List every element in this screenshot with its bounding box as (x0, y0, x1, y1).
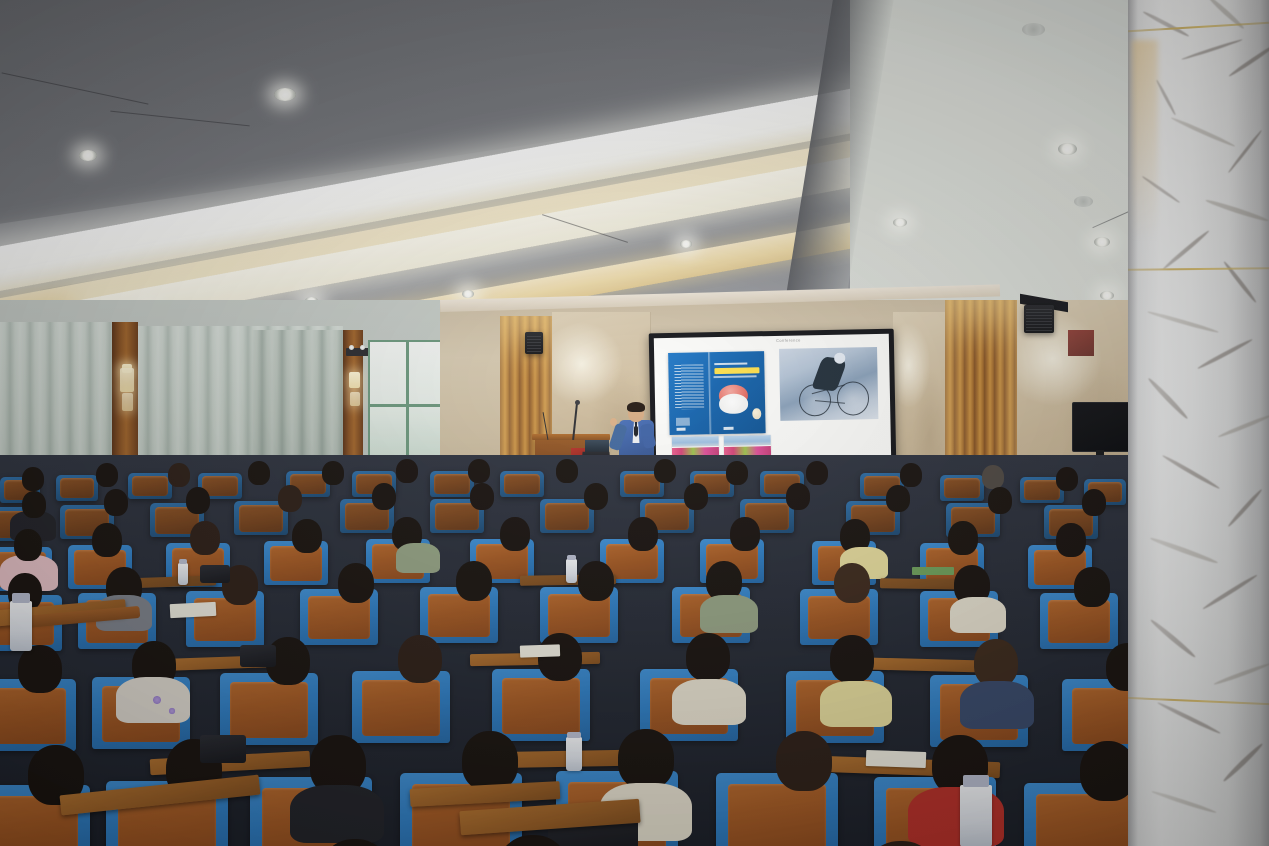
downlight (1094, 237, 1110, 247)
thumbnail-top (672, 436, 719, 447)
handheld-microphone (634, 426, 638, 436)
audience-head (92, 523, 122, 557)
marble-vein (1227, 488, 1263, 528)
marble-vein (1147, 377, 1189, 421)
seat[interactable] (352, 671, 450, 743)
audience-head (786, 483, 810, 510)
marble-vein (1162, 229, 1211, 271)
downlight (79, 150, 97, 161)
wall-sconce (350, 392, 360, 406)
audience-shoulders (672, 679, 746, 725)
marble-vein (1227, 129, 1263, 173)
marble-vein (1149, 536, 1218, 565)
audience-head (1056, 467, 1078, 491)
audience-head (578, 561, 614, 601)
seat[interactable] (56, 475, 98, 501)
audience-head (726, 461, 748, 485)
audience-head (686, 633, 730, 681)
water-bottle (566, 737, 582, 771)
slide-title: Conference (776, 337, 801, 342)
handbag (200, 565, 230, 583)
audience-head (948, 521, 978, 555)
marble-vein (1149, 618, 1197, 659)
clothing-flower-motif (168, 707, 176, 715)
audience-head (988, 487, 1012, 514)
audience-shoulders (396, 543, 440, 573)
audience-head (556, 459, 578, 483)
audience-head (830, 635, 874, 683)
audience-head (396, 459, 418, 483)
column-warm-reflection (1132, 40, 1158, 240)
audience-head (22, 467, 44, 491)
window-mullion (370, 404, 450, 407)
speaker-grille (1026, 307, 1052, 331)
audience-head (338, 563, 374, 603)
audience-head (18, 645, 62, 693)
papers (170, 602, 217, 618)
audience-shoulders (290, 785, 384, 843)
side-monitor (1072, 402, 1132, 452)
audience-head (104, 489, 128, 516)
clothing-flower-motif (152, 695, 162, 705)
marble-vein (1170, 116, 1236, 148)
spotlight (349, 345, 354, 350)
audience-head (22, 491, 46, 518)
audience-head (462, 731, 518, 791)
thumbnail-top (724, 435, 771, 446)
audience-shoulders (700, 595, 758, 633)
handbag (240, 645, 276, 667)
microphone-head-icon (575, 400, 580, 405)
speaker-grille (527, 334, 541, 352)
wall-sconce (349, 372, 360, 388)
audience-head (96, 463, 118, 487)
audience-head (470, 483, 494, 510)
downlight (1100, 291, 1114, 300)
water-bottle (178, 563, 188, 585)
marble-vein (1228, 42, 1269, 78)
book-title-band (715, 368, 759, 375)
book-spine (708, 352, 711, 433)
marble-vein (1142, 10, 1190, 38)
audience-head (292, 519, 322, 553)
lecture-hall-photo: Conference (0, 0, 1269, 846)
marble-vein (1217, 413, 1269, 438)
spotlight (360, 345, 365, 350)
water-bottle (10, 601, 32, 651)
audience-head (14, 529, 42, 561)
audience-head (500, 517, 530, 551)
audience-head (834, 563, 870, 603)
audience-head (584, 483, 608, 510)
audience-head (186, 487, 210, 514)
marble-vein (1151, 790, 1217, 815)
marble-vein (1161, 454, 1220, 490)
audience-head (538, 633, 582, 681)
audience-head (654, 459, 676, 483)
marble-vein (1181, 38, 1243, 61)
seat[interactable] (940, 475, 984, 501)
book (912, 567, 954, 575)
seat[interactable] (128, 473, 172, 499)
audience-head (628, 517, 658, 551)
wall-sconce (122, 393, 133, 411)
marble-vein (1222, 742, 1264, 783)
column-gold-band (1128, 697, 1269, 705)
marble-vein (1157, 701, 1222, 735)
handbag (200, 735, 246, 763)
audience-shoulders (960, 681, 1034, 729)
downlight (680, 240, 692, 248)
audience-head (776, 731, 832, 791)
laptop-screen (585, 440, 609, 452)
audience-head (886, 485, 910, 512)
water-bottle (566, 559, 577, 583)
marble-vein (1147, 310, 1219, 334)
water-bottle (960, 785, 992, 846)
seat[interactable] (492, 669, 590, 741)
downlight (274, 88, 296, 101)
marble-vein (1213, 662, 1269, 686)
audience-head (468, 459, 490, 483)
marble-vein (1205, 198, 1269, 223)
audience-head (322, 461, 344, 485)
audience-head (806, 461, 828, 485)
audience-head (168, 463, 190, 487)
audience-head (398, 635, 442, 683)
marble-vein (1202, 573, 1258, 610)
papers (520, 644, 560, 657)
audience-head (190, 521, 220, 555)
audience-head (684, 483, 708, 510)
bicycle-wheel (836, 382, 869, 416)
marble-vein (1155, 79, 1176, 116)
audience-head (278, 485, 302, 512)
downlight (1058, 143, 1077, 155)
presenter-hand (610, 418, 617, 426)
downlight-ring (1022, 23, 1045, 36)
downlight-ring (1074, 196, 1093, 207)
book-face-graphic (719, 394, 748, 414)
audience-shoulders (950, 597, 1006, 633)
wall-speaker (1024, 305, 1054, 333)
audience-shoulders (820, 681, 892, 727)
downlight (893, 218, 907, 227)
seat[interactable] (500, 471, 544, 497)
wall-speaker (525, 332, 543, 354)
audience-head (900, 463, 922, 487)
audience-head (456, 561, 492, 601)
marble-column (1128, 0, 1269, 846)
audience-head (1074, 567, 1110, 607)
book-barcode (676, 418, 690, 426)
slide-cyclist-photo (779, 347, 879, 421)
audience-head (372, 483, 396, 510)
audience-head (1082, 489, 1106, 516)
audience-head (730, 517, 760, 551)
audience-head (1056, 523, 1086, 557)
projection-screen[interactable]: Conference (649, 329, 897, 471)
audience-seating (0, 455, 1269, 846)
wall-sconce (120, 368, 134, 392)
audience-head (982, 465, 1004, 489)
audience-head (618, 729, 674, 789)
publisher-logo (724, 427, 734, 430)
slide-book-cover (668, 351, 766, 434)
cyclist-head (834, 353, 845, 363)
column-gold-band (1128, 22, 1269, 33)
slide-canvas: Conference (654, 334, 891, 465)
book-tagline (714, 375, 756, 378)
presenter-hair (627, 402, 645, 412)
book-subtitle-line (715, 362, 748, 365)
column-gold-band (1128, 267, 1269, 270)
papers (866, 750, 927, 768)
audience-head (974, 639, 1018, 687)
book-back-text (674, 364, 704, 410)
audience-head (248, 461, 270, 485)
publisher-logo (676, 428, 686, 431)
marble-vein (1197, 338, 1254, 371)
book-sphere-graphic (752, 408, 761, 420)
wall-cabinet (1068, 330, 1094, 356)
downlight (462, 290, 474, 298)
